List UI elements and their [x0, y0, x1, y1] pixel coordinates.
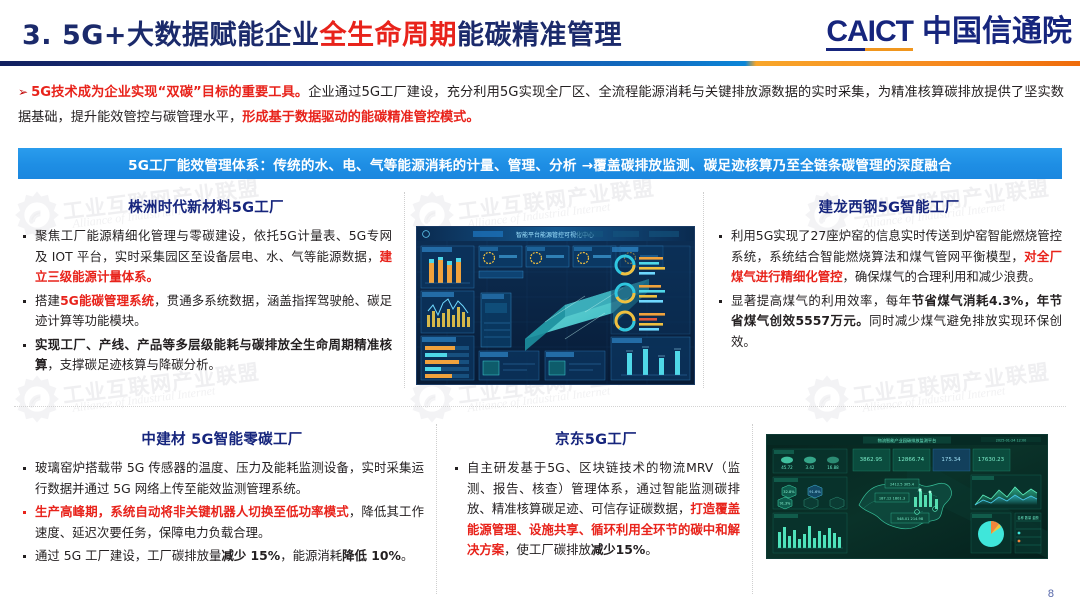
- bullet-list-jingdong: 自主研发基于5G、区块链技术的物流MRV（监测、报告、核查）管理体系，通过智能监…: [452, 458, 740, 561]
- block-jianlong: 建龙西钢5G智能工厂 利用5G实现了27座炉窑的信息实时传送到炉窑智能燃烧管控系…: [716, 196, 1062, 355]
- lead-emphasis-2: 形成基于数据驱动的能碳精准管控模式。: [242, 110, 479, 125]
- logo-latin-text: CAICT: [826, 16, 913, 48]
- column-divider-right: [703, 192, 704, 388]
- dashboard-blue-graphic: 智能平台能源管控可视化中心: [417, 227, 694, 384]
- svg-text:2025-01-24 12:00: 2025-01-24 12:00: [996, 438, 1027, 442]
- list-item: 玻璃窑炉搭载带 5G 传感器的温度、压力及能耗监测设备，实时采集运行数据并通过 …: [20, 458, 424, 499]
- run-text: 。: [645, 542, 657, 557]
- run-text: ，使工厂碳排放: [504, 542, 591, 557]
- image-zhuzhou-dashboard: 智能平台能源管控可视化中心: [416, 226, 695, 385]
- block-zhongjiancai: 中建材 5G智能零碳工厂 玻璃窑炉搭载带 5G 传感器的温度、压力及能耗监测设备…: [20, 428, 424, 570]
- header-gradient-rule: [0, 61, 1080, 66]
- page-title-prefix: 3. 5G+大数据赋能企业: [22, 20, 320, 51]
- svg-text:548.01 214.98: 548.01 214.98: [897, 517, 924, 521]
- run-text: 聚焦工厂能源精细化管理与零碳建设，依托5G计量表、5G专网及 IOT 平台，实时…: [35, 228, 392, 264]
- list-item: 自主研发基于5G、区块链技术的物流MRV（监测、报告、核查）管理体系，通过智能监…: [452, 458, 740, 561]
- caict-logo: CAICT 中国信通院: [826, 14, 1072, 48]
- page-title: 3. 5G+大数据赋能企业全生命周期能碳精准管理: [22, 13, 622, 52]
- run-text-bold: 降低 10%: [342, 548, 401, 563]
- svg-text:91.3%: 91.3%: [780, 502, 792, 506]
- svg-text:3862.95: 3862.95: [860, 457, 883, 463]
- lead-emphasis-1: 5G技术成为企业实现“双碳”目标的重要工具。: [31, 85, 308, 100]
- watermark-cn: 工业互联网产业联盟: [851, 356, 1051, 410]
- run-text: 显著提高煤气的利用效率，每年: [731, 293, 912, 308]
- block-title-zhongjiancai: 中建材 5G智能零碳工厂: [20, 428, 424, 449]
- bullet-list-zhuzhou: 聚焦工厂能源精细化管理与零碳建设，依托5G计量表、5G专网及 IOT 平台，实时…: [20, 226, 392, 376]
- row-divider: [14, 406, 1066, 407]
- list-item: 聚焦工厂能源精细化管理与零碳建设，依托5G计量表、5G专网及 IOT 平台，实时…: [20, 226, 392, 288]
- watermark-en: Alliance of Industrial Internet: [467, 383, 611, 415]
- svg-text:45.72: 45.72: [781, 465, 793, 470]
- logo-cn-text: 中国信通院: [922, 16, 1072, 48]
- list-item: 搭建5G能碳管理系统，贯通多系统数据，涵盖指挥驾驶舱、碳足迹计算等功能模块。: [20, 291, 392, 332]
- page-number: 8: [1048, 588, 1054, 600]
- run-text-bold: 减少 15%: [221, 548, 280, 563]
- watermark-en: Alliance of Industrial Internet: [72, 383, 216, 415]
- run-text: 通过 5G 工厂建设，工厂碳排放量: [35, 548, 221, 563]
- page-title-highlight: 全生命周期: [320, 20, 458, 51]
- svg-text:32.8%: 32.8%: [783, 490, 795, 494]
- slide-header: 3. 5G+大数据赋能企业全生命周期能碳精准管理 CAICT 中国信通院: [0, 0, 1080, 70]
- run-text: 。: [401, 548, 413, 563]
- run-text-emphasis: 生产高峰期，系统自动将非关键机器人切换至低功率模式: [35, 504, 349, 519]
- block-zhuzhou: 株洲时代新材料5G工厂 聚焦工厂能源精细化管理与零碳建设，依托5G计量表、5G专…: [20, 196, 392, 379]
- svg-text:12866.74: 12866.74: [898, 457, 925, 463]
- run-text: ，支撑碳足迹核算与降碳分析。: [47, 357, 220, 372]
- run-text: ，能源消耗: [280, 548, 342, 563]
- list-item: 实现工厂、产线、产品等多层级能耗与碳排放全生命周期精准核算，支撑碳足迹核算与降碳…: [20, 335, 392, 376]
- block-title-zhuzhou: 株洲时代新材料5G工厂: [20, 196, 392, 217]
- block-title-jingdong: 京东5G工厂: [452, 428, 740, 449]
- svg-text:17630.23: 17630.23: [978, 457, 1005, 463]
- block-jingdong: 京东5G工厂 自主研发基于5G、区块链技术的物流MRV（监测、报告、核查）管理体…: [452, 428, 740, 564]
- svg-text:3.42: 3.42: [806, 465, 815, 470]
- section-banner: 5G工厂能效管理体系：传统的水、电、气等能源消耗的计量、管理、分析 →覆盖碳排放…: [18, 148, 1062, 179]
- svg-text:2412.5 305.4: 2412.5 305.4: [890, 483, 915, 487]
- watermark-cn: 工业互联网产业联盟: [456, 172, 656, 226]
- svg-text:16.88: 16.88: [827, 465, 839, 470]
- column-divider-bottom-right: [752, 424, 753, 594]
- svg-text:175.34: 175.34: [941, 457, 961, 463]
- svg-text:物流智能产业园碳排放监测平台: 物流智能产业园碳排放监测平台: [878, 437, 937, 444]
- svg-text:名称 数量 金额: 名称 数量 金额: [1017, 515, 1039, 520]
- bullet-list-zhongjiancai: 玻璃窑炉搭载带 5G 传感器的温度、压力及能耗监测设备，实时采集运行数据并通过 …: [20, 458, 424, 567]
- block-title-jianlong: 建龙西钢5G智能工厂: [716, 196, 1062, 217]
- list-item: 生产高峰期，系统自动将非关键机器人切换至低功率模式，降低其工作速度、延迟次要任务…: [20, 502, 424, 543]
- bullet-list-jianlong: 利用5G实现了27座炉窑的信息实时传送到炉窑智能燃烧管控系统，系统结合智能燃烧算…: [716, 226, 1062, 352]
- run-text: 搭建: [35, 293, 60, 308]
- list-item: 通过 5G 工厂建设，工厂碳排放量减少 15%，能源消耗降低 10%。: [20, 546, 424, 567]
- list-item: 显著提高煤气的利用效率，每年节省煤气消耗4.3%，年节省煤气创效5557万元。同…: [716, 291, 1062, 353]
- section-banner-text: 5G工厂能效管理体系：传统的水、电、气等能源消耗的计量、管理、分析 →覆盖碳排放…: [128, 154, 952, 174]
- svg-text:187.12 1801.3: 187.12 1801.3: [879, 497, 905, 501]
- dashboard-green-graphic: 物流智能产业园碳排放监测平台 2025-01-24 12:00 45.72 3.…: [767, 435, 1047, 558]
- list-item: 利用5G实现了27座炉窑的信息实时传送到炉窑智能燃烧管控系统，系统结合智能燃烧算…: [716, 226, 1062, 288]
- column-divider-bottom-left: [436, 424, 437, 594]
- run-text: 利用5G实现了27座炉窑的信息实时传送到炉窑智能燃烧管控系统，系统结合智能燃烧算…: [731, 228, 1062, 264]
- run-text: ，确保煤气的合理利用和减少浪费。: [843, 269, 1041, 284]
- column-divider-left: [404, 192, 405, 388]
- run-text-emphasis: 5G能碳管理系统: [60, 293, 154, 308]
- gear-wifi-icon: [10, 372, 64, 426]
- run-text: 玻璃窑炉搭载带 5G 传感器的温度、压力及能耗监测设备，实时采集运行数据并通过 …: [35, 460, 424, 496]
- page-title-suffix: 能碳精准管理: [457, 20, 622, 51]
- slide-root: 工业互联网产业联盟 Alliance of Industrial Interne…: [0, 0, 1080, 608]
- run-text-bold: 减少15%: [591, 542, 645, 557]
- watermark-en: Alliance of Industrial Internet: [862, 383, 1006, 415]
- svg-text:91.6%: 91.6%: [809, 490, 821, 494]
- gear-wifi-icon: [800, 372, 854, 426]
- lead-paragraph: ➢5G技术成为企业实现“双碳”目标的重要工具。企业通过5G工厂建设，充分利用5G…: [18, 80, 1064, 130]
- lead-bullet-icon: ➢: [18, 85, 28, 99]
- image-jingdong-dashboard: 物流智能产业园碳排放监测平台 2025-01-24 12:00 45.72 3.…: [766, 434, 1048, 559]
